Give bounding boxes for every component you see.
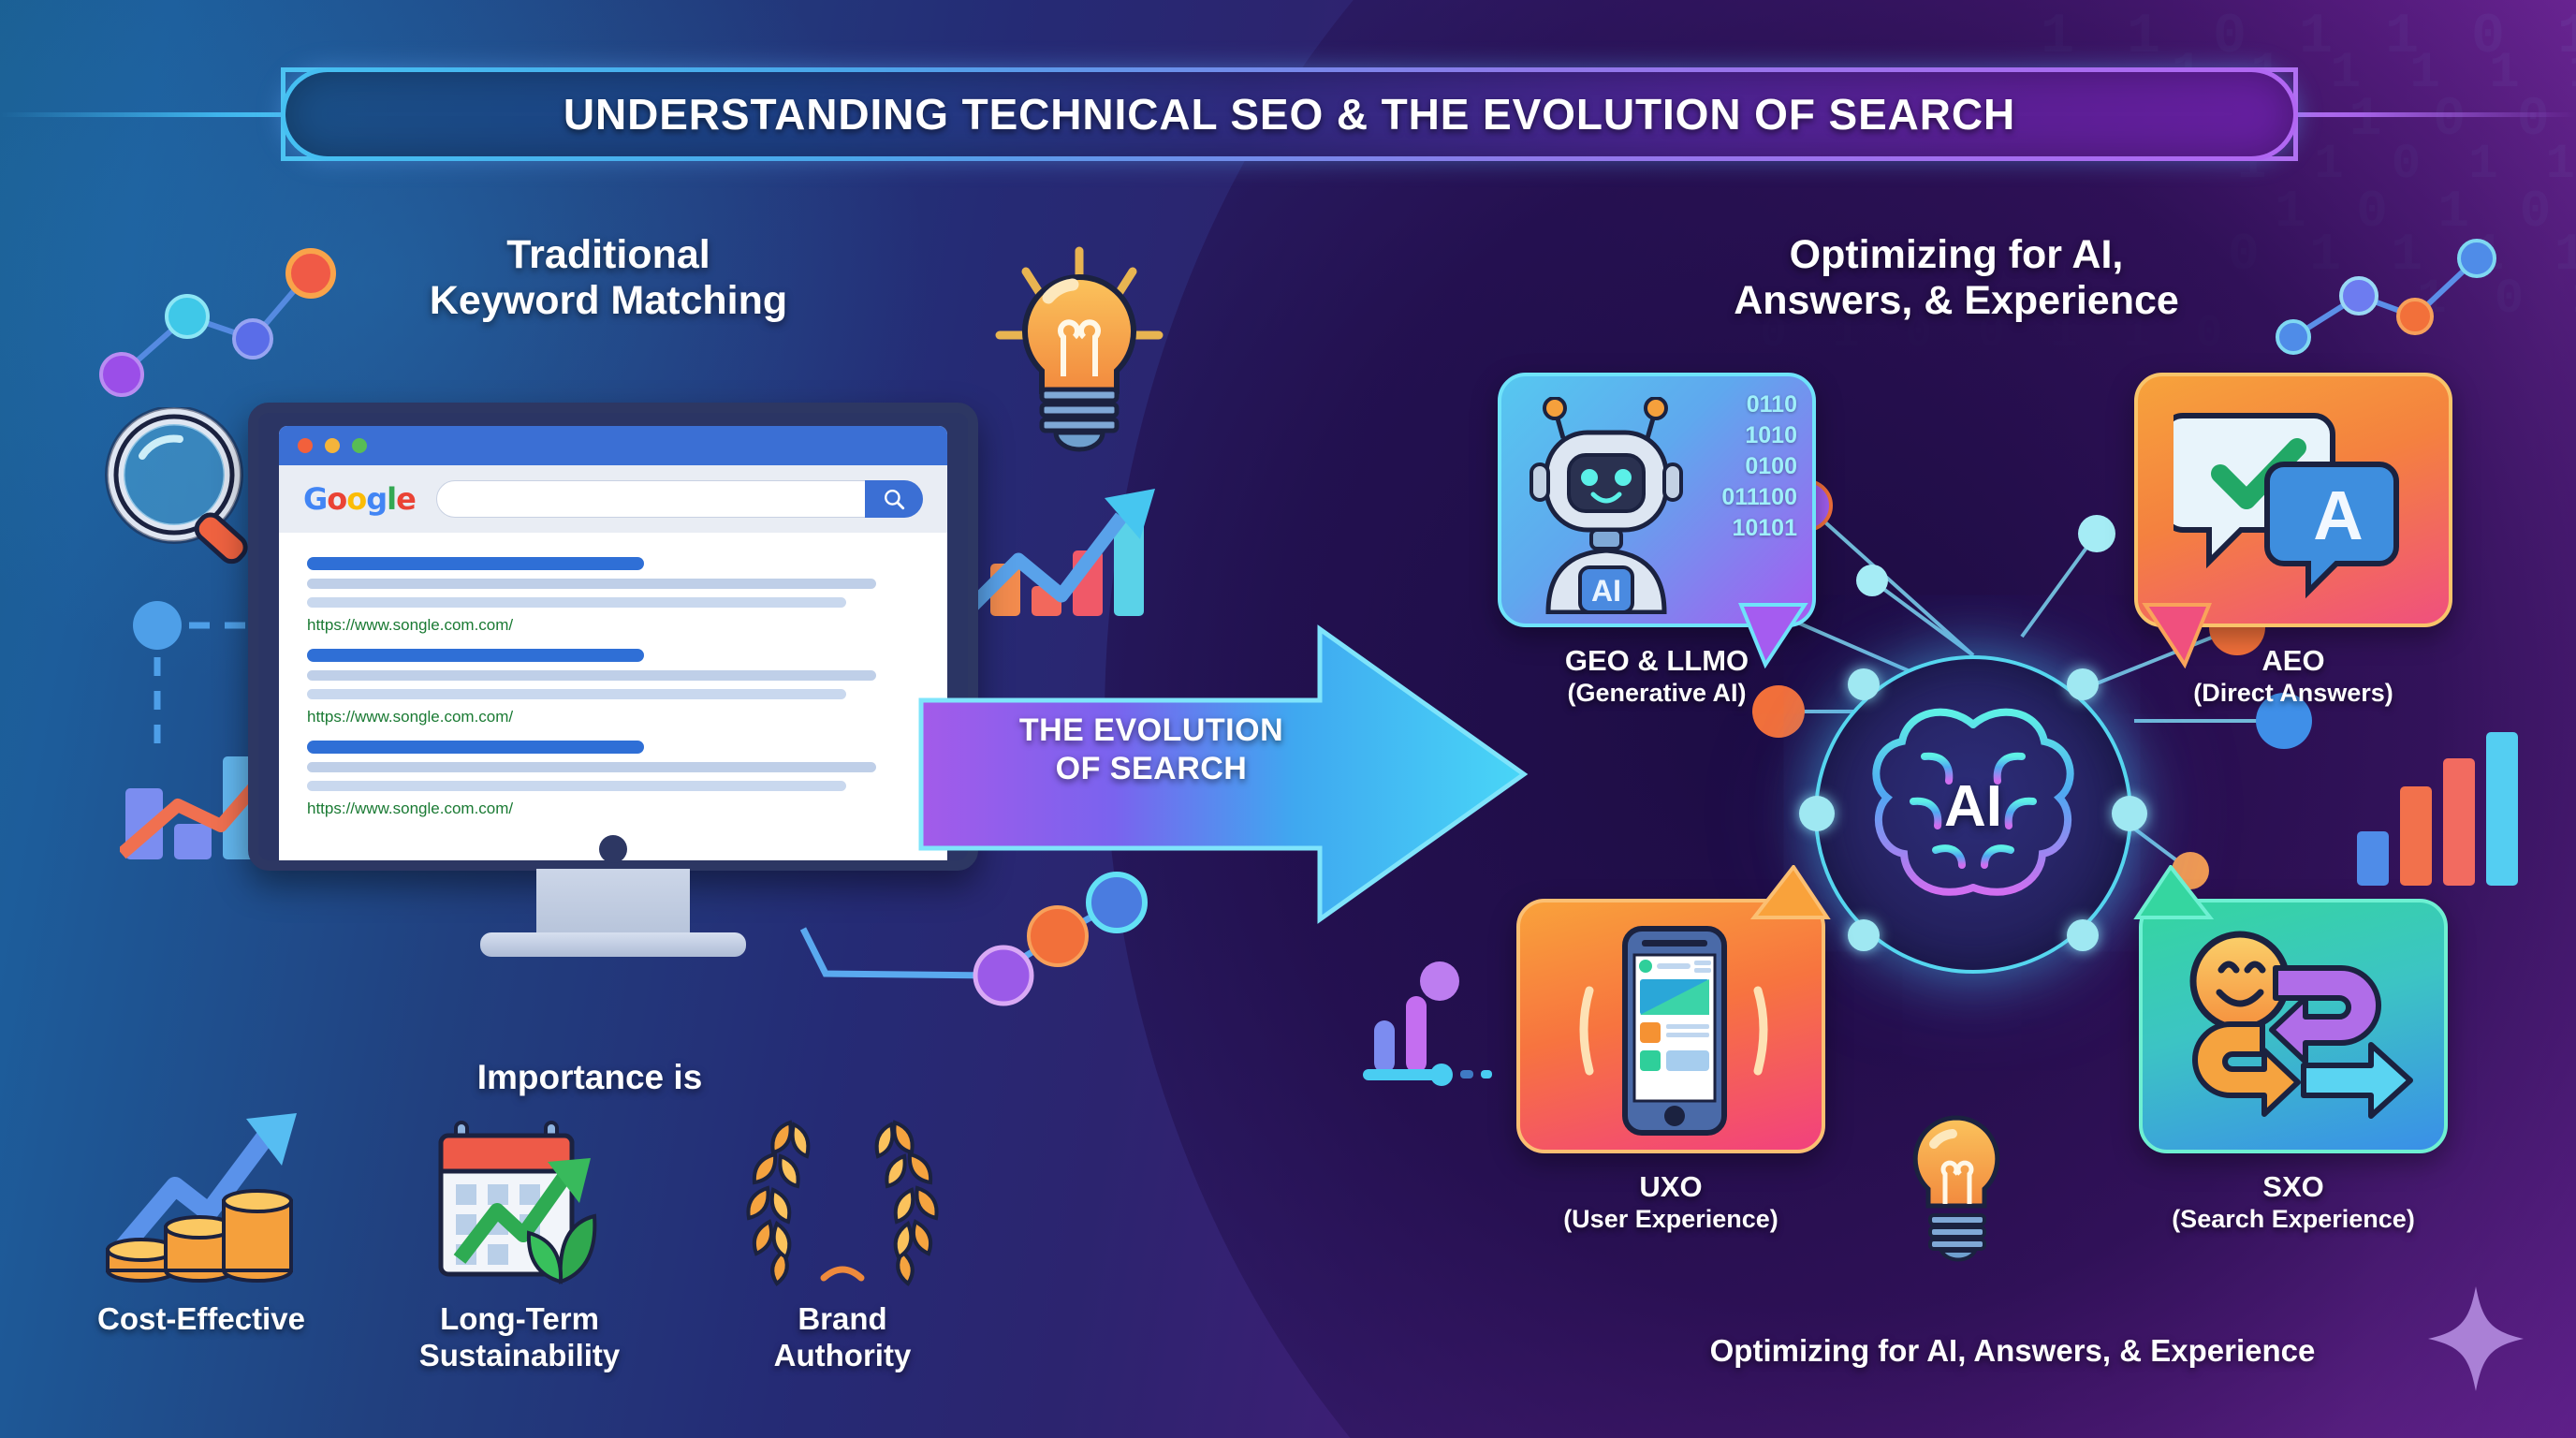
hub-node: [2067, 919, 2099, 951]
result-title-placeholder: [307, 741, 644, 754]
bubble-tail: [1747, 865, 1831, 921]
line-chart-decoration-top-right: [2275, 234, 2499, 365]
right-footer-label: Optimizing for AI, Answers, & Experience: [1535, 1333, 2490, 1369]
right-section-heading: Optimizing for AI, Answers, & Experience: [1619, 232, 2293, 324]
binary-line: 1010: [1721, 420, 1797, 451]
google-logo-letter: l: [387, 481, 396, 517]
google-logo-letter: o: [327, 481, 346, 517]
bubble-tail: [2129, 603, 2213, 668]
sxo-bubble-body: [2139, 899, 2448, 1153]
benefit-label: Long-Term Sustainability: [365, 1301, 674, 1374]
sxo-subtitle: (Search Experience): [2139, 1205, 2448, 1235]
uxo-label: UXO (User Experience): [1516, 1170, 1825, 1234]
right-heading-line2: Answers, & Experience: [1619, 278, 2293, 324]
card-geo-llmo[interactable]: AI 01101010010001110010101 GEO & LLMO (G…: [1498, 373, 1816, 708]
result-url[interactable]: https://www.songle.com.com/: [307, 616, 919, 635]
geo-llmo-subtitle: (Generative AI): [1498, 679, 1816, 709]
window-close-dot[interactable]: [298, 438, 313, 453]
bubble-tail: [2133, 865, 2217, 921]
ai-hub: AI: [1814, 655, 2132, 974]
smiley-loop-arrows-icon: [2176, 923, 2416, 1138]
sxo-title: SXO: [2139, 1170, 2448, 1205]
search-results-list: https://www.songle.com.com/https://www.s…: [279, 533, 947, 860]
browser-titlebar: [279, 426, 947, 465]
lightbulb-icon-bottom: [1891, 1105, 2022, 1273]
uxo-bubble-body: [1516, 899, 1825, 1153]
result-url[interactable]: https://www.songle.com.com/: [307, 800, 919, 818]
search-icon: [882, 487, 906, 511]
sxo-label: SXO (Search Experience): [2139, 1170, 2448, 1234]
benefit-cost-effective: Cost-Effective: [47, 1100, 356, 1338]
benefit-long-term-sustainability: Long-Term Sustainability: [365, 1100, 674, 1374]
growth-chart-decoration-center: [964, 412, 1179, 618]
result-snippet-placeholder: [307, 781, 846, 791]
svg-text:AI: AI: [1591, 574, 1621, 608]
title-rule-left: [0, 112, 290, 117]
google-logo-letter: G: [303, 481, 327, 517]
search-result-item[interactable]: https://www.songle.com.com/: [307, 557, 919, 635]
benefit-label-line2: Sustainability: [365, 1338, 674, 1374]
result-snippet-placeholder: [307, 689, 846, 699]
aeo-bubble: A: [2134, 373, 2452, 627]
sxo-bubble: [2139, 899, 2448, 1153]
page-title: UNDERSTANDING TECHNICAL SEO & THE EVOLUT…: [563, 89, 2015, 139]
result-url[interactable]: https://www.songle.com.com/: [307, 708, 919, 726]
google-logo-letter: e: [396, 481, 416, 517]
evolution-label-line1: THE EVOLUTION: [973, 712, 1329, 750]
geo-llmo-bubble: AI 01101010010001110010101: [1498, 373, 1816, 627]
left-heading-line2: Keyword Matching: [300, 278, 917, 324]
binary-line: 10101: [1721, 513, 1797, 544]
left-heading-line1: Traditional: [300, 232, 917, 278]
coins-growth-arrow-icon: [89, 1100, 314, 1287]
evolution-label-line2: OF SEARCH: [973, 750, 1329, 788]
benefit-label: Brand Authority: [688, 1301, 997, 1374]
monitor-neck: [536, 869, 690, 938]
mini-bar-chart-decoration: [1355, 951, 1524, 1092]
monitor-base: [480, 932, 746, 957]
result-snippet-placeholder: [307, 670, 876, 681]
search-header: Google: [279, 465, 947, 533]
hub-node: [2067, 668, 2099, 700]
desktop-monitor-mockup: Google https://www.songle.com.com/https:…: [248, 403, 978, 1002]
chat-check-answer-icon: A: [2173, 403, 2408, 599]
result-title-placeholder: [307, 649, 644, 662]
importance-label: Importance is: [300, 1058, 880, 1097]
result-snippet-placeholder: [307, 579, 876, 589]
result-snippet-placeholder: [307, 597, 846, 608]
hub-node: [1848, 668, 1880, 700]
ai-robot-icon: AI: [1528, 397, 1687, 614]
uxo-title: UXO: [1516, 1170, 1825, 1205]
uxo-bubble: [1516, 899, 1825, 1153]
geo-llmo-bubble-body: AI 01101010010001110010101: [1498, 373, 1816, 627]
search-button[interactable]: [865, 480, 923, 518]
window-maximize-dot[interactable]: [352, 438, 367, 453]
infographic-canvas: 1 1 0 1 1 0 1 1 1 1 1 1 1 1 0 1 0 0 1 1 …: [0, 0, 2576, 1438]
bar-chart-decoration-right: [2349, 730, 2537, 908]
uxo-subtitle: (User Experience): [1516, 1205, 1825, 1235]
search-result-item[interactable]: https://www.songle.com.com/: [307, 741, 919, 818]
google-logo-letter: g: [366, 481, 387, 517]
binary-line: 0110: [1721, 389, 1797, 420]
calendar-growth-leaf-icon: [407, 1100, 632, 1287]
card-uxo[interactable]: UXO (User Experience): [1516, 899, 1825, 1234]
aeo-bubble-body: A: [2134, 373, 2452, 627]
google-logo-letter: o: [346, 481, 366, 517]
answer-letter: A: [2313, 477, 2363, 554]
line-chart-decoration-top-left: [94, 234, 365, 421]
search-input[interactable]: [436, 480, 923, 518]
page-title-pill: UNDERSTANDING TECHNICAL SEO & THE EVOLUT…: [281, 67, 2298, 161]
laurel-wreath-icon: [730, 1100, 955, 1287]
card-sxo[interactable]: SXO (Search Experience): [2139, 899, 2448, 1234]
left-section-heading: Traditional Keyword Matching: [300, 232, 917, 324]
result-title-placeholder: [307, 557, 644, 570]
benefit-label: Cost-Effective: [47, 1301, 356, 1338]
monitor-power-button[interactable]: [599, 835, 627, 863]
evolution-arrow: THE EVOLUTION OF SEARCH: [917, 610, 1535, 938]
window-minimize-dot[interactable]: [325, 438, 340, 453]
benefit-label-line1: Long-Term: [365, 1301, 674, 1338]
mobile-phone-ui-icon: [1567, 919, 1780, 1142]
title-banner: UNDERSTANDING TECHNICAL SEO & THE EVOLUT…: [0, 67, 2576, 161]
benefit-label-line1: Brand: [688, 1301, 997, 1338]
monitor-screen: Google https://www.songle.com.com/https:…: [248, 403, 978, 871]
binary-line: 0100: [1721, 451, 1797, 482]
evolution-arrow-label: THE EVOLUTION OF SEARCH: [973, 712, 1329, 789]
bubble-tail: [1737, 603, 1822, 668]
google-logo: Google: [303, 481, 416, 517]
right-heading-line1: Optimizing for AI,: [1619, 232, 2293, 278]
ai-hub-label: AI: [1814, 773, 2132, 840]
benefit-label-line1: Cost-Effective: [47, 1301, 356, 1338]
binary-line: 011100: [1721, 482, 1797, 513]
browser-window: Google https://www.songle.com.com/https:…: [279, 426, 947, 860]
title-rule-right: [2286, 112, 2576, 117]
hub-node: [1848, 919, 1880, 951]
result-snippet-placeholder: [307, 762, 876, 772]
binary-digits-label: 01101010010001110010101: [1721, 389, 1797, 544]
benefit-label-line2: Authority: [688, 1338, 997, 1374]
benefit-brand-authority: Brand Authority: [688, 1100, 997, 1374]
search-result-item[interactable]: https://www.songle.com.com/: [307, 649, 919, 726]
card-aeo[interactable]: A AEO (Direct Answers): [2134, 373, 2452, 708]
aeo-subtitle: (Direct Answers): [2134, 679, 2452, 709]
